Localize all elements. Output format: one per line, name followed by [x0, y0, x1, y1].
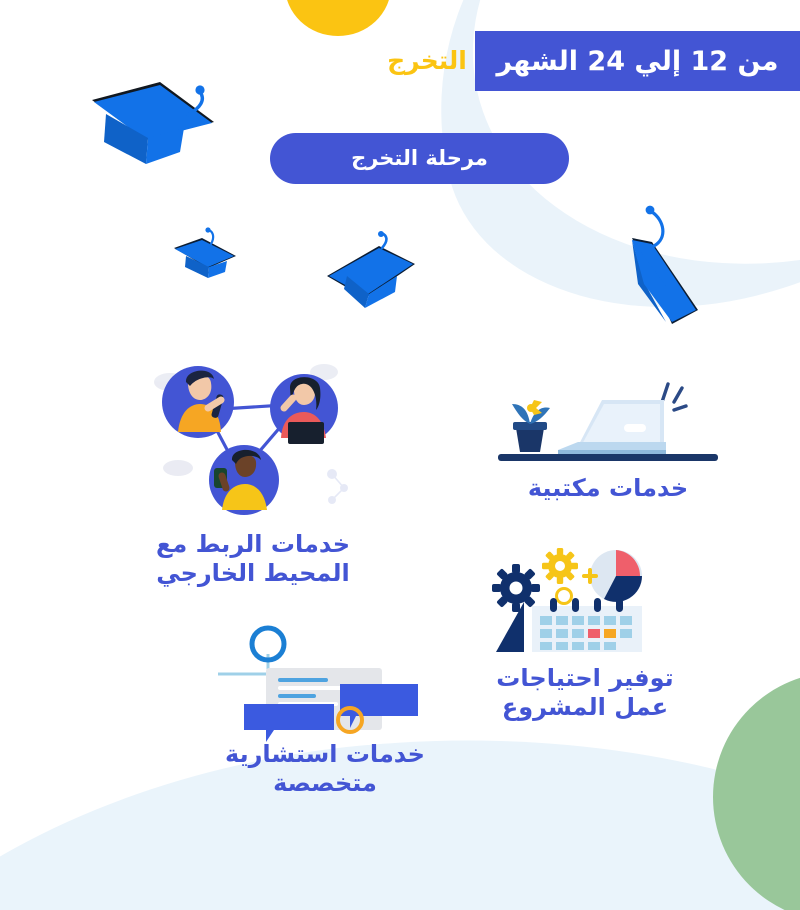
phase-word: التخرج	[389, 38, 465, 82]
service-item-office[interactable]: خدمات مكتبية	[498, 378, 718, 503]
graduation-cap-icon	[88, 78, 218, 173]
service-item-consulting[interactable]: خدمات استشارية متخصصة	[210, 626, 440, 799]
green-circle-decoration	[713, 672, 800, 910]
duration-badge: من 12 إلي 24 الشهر	[475, 31, 800, 91]
yellow-circle-decoration	[285, 0, 391, 36]
service-label-office: خدمات مكتبية	[498, 474, 718, 503]
stage-pill-button[interactable]: مرحلة التخرج	[270, 133, 569, 184]
graduation-cap-icon	[172, 228, 242, 286]
people-network-illustration	[148, 352, 358, 522]
service-label-network: خدمات الربط مع المحيط الخارجي	[148, 530, 358, 589]
infographic-canvas: من 12 إلي 24 الشهر التخرج مرحلة التخرج	[0, 0, 800, 910]
graduation-cap-icon	[325, 232, 417, 314]
stage-pill-label: مرحلة التخرج	[351, 148, 488, 169]
calendar-chart-gear-illustration	[480, 548, 690, 654]
graduation-cap-icon	[608, 198, 704, 334]
service-label-project: توفير احتياجات عمل المشروع	[480, 664, 690, 723]
duration-badge-label: من 12 إلي 24 الشهر	[497, 48, 779, 75]
document-chat-illustration	[210, 626, 440, 730]
desk-laptop-illustration	[498, 378, 718, 468]
service-item-network[interactable]: خدمات الربط مع المحيط الخارجي	[148, 352, 358, 589]
service-label-consulting: خدمات استشارية متخصصة	[210, 740, 440, 799]
phase-word-label: التخرج	[387, 48, 467, 73]
service-item-project[interactable]: توفير احتياجات عمل المشروع	[480, 548, 690, 723]
